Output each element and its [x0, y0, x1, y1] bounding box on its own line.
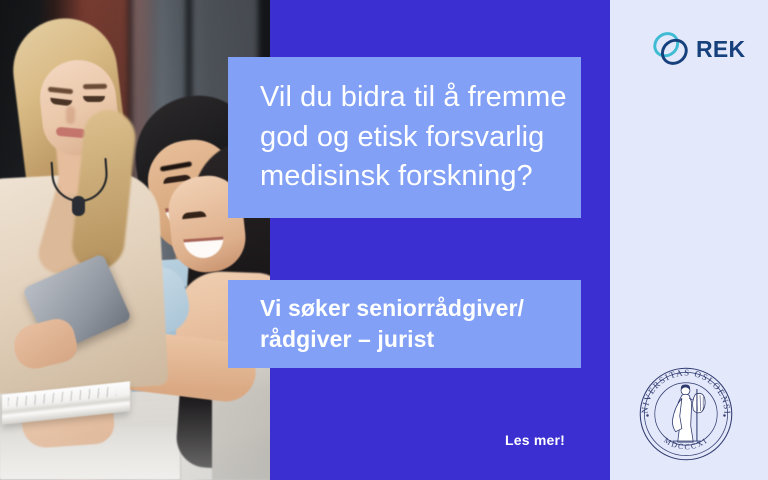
person-woman1-nose	[66, 106, 75, 124]
uio-seal-emblem: UNIVERSITAS OSLOENSIS MDCCCXI	[634, 362, 738, 466]
headline-text: Vil du bidra til å fremme god og etisk f…	[260, 78, 567, 196]
interlocking-rings-icon	[650, 28, 692, 70]
rek-logo[interactable]: REK	[650, 27, 740, 71]
necklace-pendant	[72, 196, 85, 216]
person-woman1-eye	[83, 96, 105, 102]
job-advert-banner: Vil du bidra til å fremme god og etisk f…	[0, 0, 768, 480]
headline-box: Vil du bidra til å fremme god og etisk f…	[228, 57, 581, 218]
read-more-link[interactable]: Les mer!	[505, 432, 565, 448]
subheadline-box: Vi søker seniorrådgiver/ rådgiver – juri…	[228, 280, 581, 368]
subheadline-text: Vi søker seniorrådgiver/ rådgiver – juri…	[260, 293, 524, 354]
person-woman1-brow	[83, 84, 107, 89]
uio-seal: UNIVERSITAS OSLOENSIS MDCCCXI	[634, 362, 738, 466]
rek-wordmark: REK	[696, 38, 745, 61]
